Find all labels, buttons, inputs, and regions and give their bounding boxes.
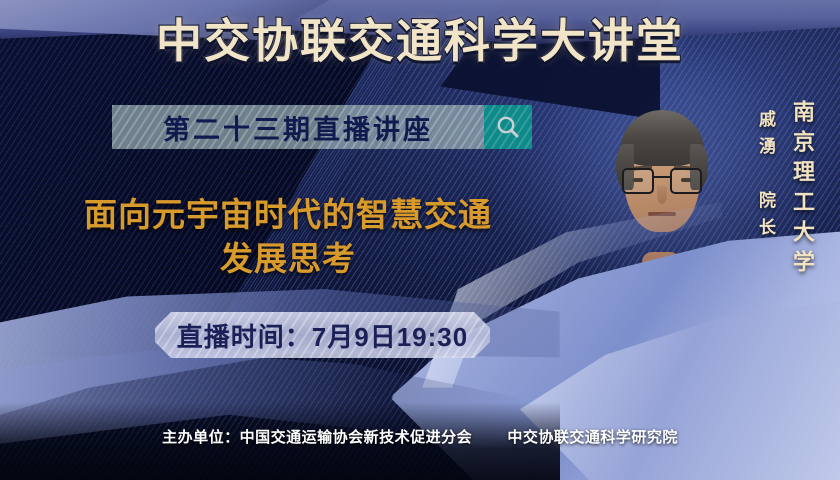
lecture-title-line2: 发展思考 bbox=[38, 237, 538, 281]
episode-bar: 第二十三期直播讲座 bbox=[112, 105, 532, 149]
main-title-text: 中交协联交通科学大讲堂 bbox=[156, 15, 684, 67]
broadcast-time-label: 直播时间：7月9日19:30 bbox=[177, 317, 468, 354]
lecture-title-line1: 面向元宇宙时代的智慧交通 bbox=[84, 196, 492, 233]
live-lecture-poster: 中交协联交通科学大讲堂 第二十三期直播讲座 面向元宇宙时代的智慧交通 发展思考 … bbox=[0, 0, 840, 480]
search-icon bbox=[495, 114, 521, 140]
broadcast-time-badge: 直播时间：7月9日19:30 bbox=[155, 312, 490, 358]
organizer-footer: 主办单位：中国交通运输协会新技术促进分会 中交协联交通科学研究院 bbox=[0, 426, 840, 447]
episode-bar-body: 第二十三期直播讲座 bbox=[112, 105, 484, 149]
portrait-nose bbox=[657, 186, 667, 204]
organizer-primary: 主办单位：中国交通运输协会新技术促进分会 bbox=[162, 429, 472, 446]
speaker-name-role: 戚湧 院长 bbox=[753, 110, 778, 245]
speaker-organization: 南京理工大学 bbox=[786, 100, 818, 280]
lecture-title: 面向元宇宙时代的智慧交通 发展思考 bbox=[38, 193, 538, 281]
glasses-bridge bbox=[654, 176, 670, 178]
organizer-secondary: 中交协联交通科学研究院 bbox=[507, 429, 678, 446]
search-icon-block[interactable] bbox=[484, 105, 532, 149]
episode-label: 第二十三期直播讲座 bbox=[163, 108, 433, 147]
main-title: 中交协联交通科学大讲堂 bbox=[0, 18, 840, 64]
glasses-lens-left bbox=[622, 168, 654, 194]
glasses-lens-right bbox=[670, 168, 702, 194]
